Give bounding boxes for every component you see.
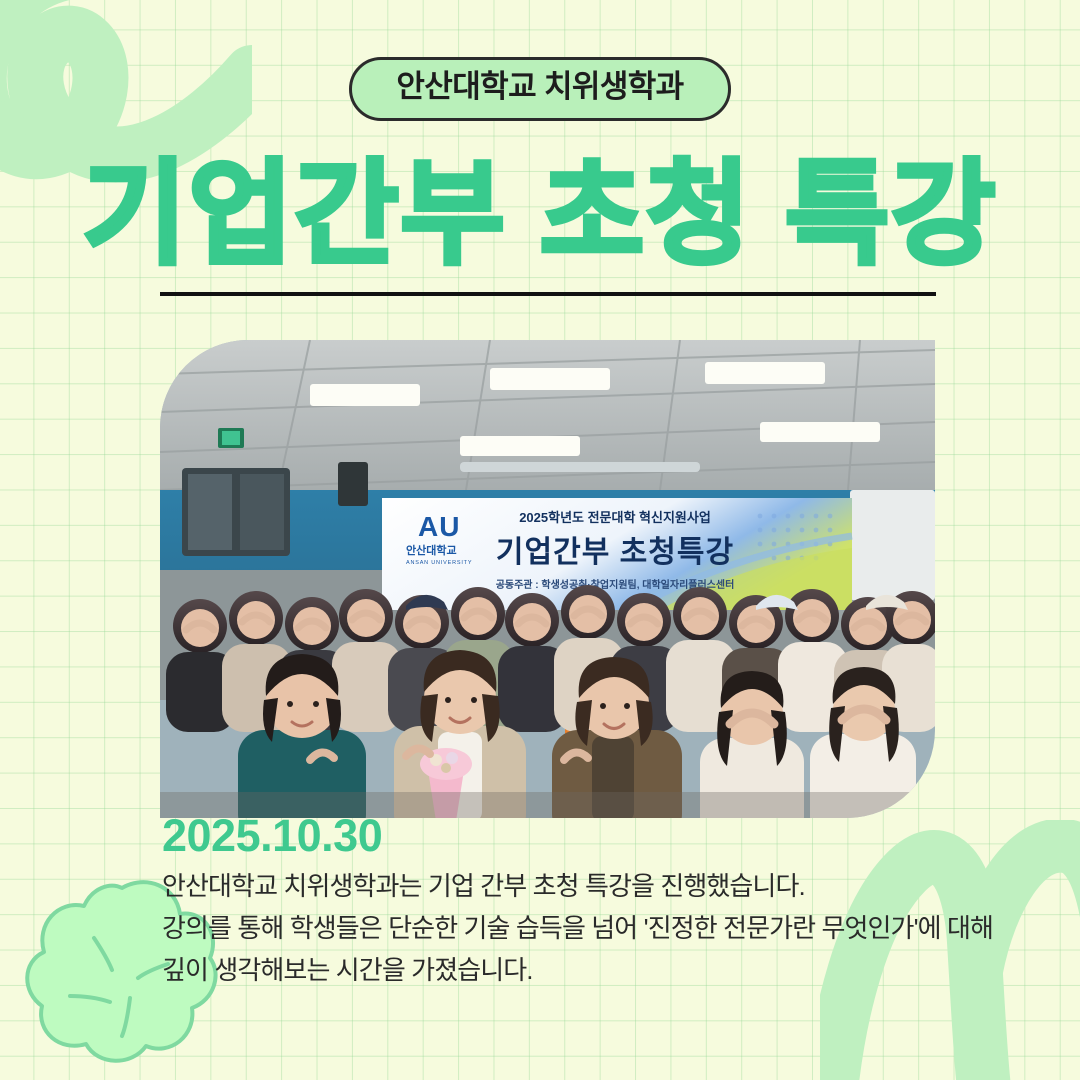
page-title: 기업간부 초청 특강 (0, 155, 1080, 274)
poster-canvas: 안산대학교 치위생학과 기업간부 초청 특강 (0, 0, 1080, 1080)
svg-text:2025학년도 전문대학 혁신지원사업: 2025학년도 전문대학 혁신지원사업 (519, 510, 711, 525)
svg-text:안산대학교: 안산대학교 (406, 543, 457, 557)
event-date: 2025.10.30 (162, 810, 382, 862)
group-photo: AU 안산대학교 ANSAN UNIVERSITY 2025학년도 전문대학 혁… (160, 340, 935, 818)
department-badge: 안산대학교 치위생학과 (349, 57, 730, 121)
department-badge-row: 안산대학교 치위생학과 (0, 57, 1080, 121)
description-line: 깊이 생각해보는 시간을 가졌습니다. (162, 949, 982, 991)
svg-text:AU: AU (418, 511, 460, 542)
svg-text:기업간부 초청특강: 기업간부 초청특강 (496, 536, 734, 569)
svg-text:ANSAN UNIVERSITY: ANSAN UNIVERSITY (406, 560, 472, 566)
description-block: 안산대학교 치위생학과는 기업 간부 초청 특강을 진행했습니다. 강의를 통해… (162, 865, 982, 991)
title-divider (160, 292, 936, 296)
description-line: 강의를 통해 학생들은 단순한 기술 습득을 넘어 '진정한 전문가란 무엇인가… (162, 907, 982, 949)
description-line: 안산대학교 치위생학과는 기업 간부 초청 특강을 진행했습니다. (162, 865, 982, 907)
